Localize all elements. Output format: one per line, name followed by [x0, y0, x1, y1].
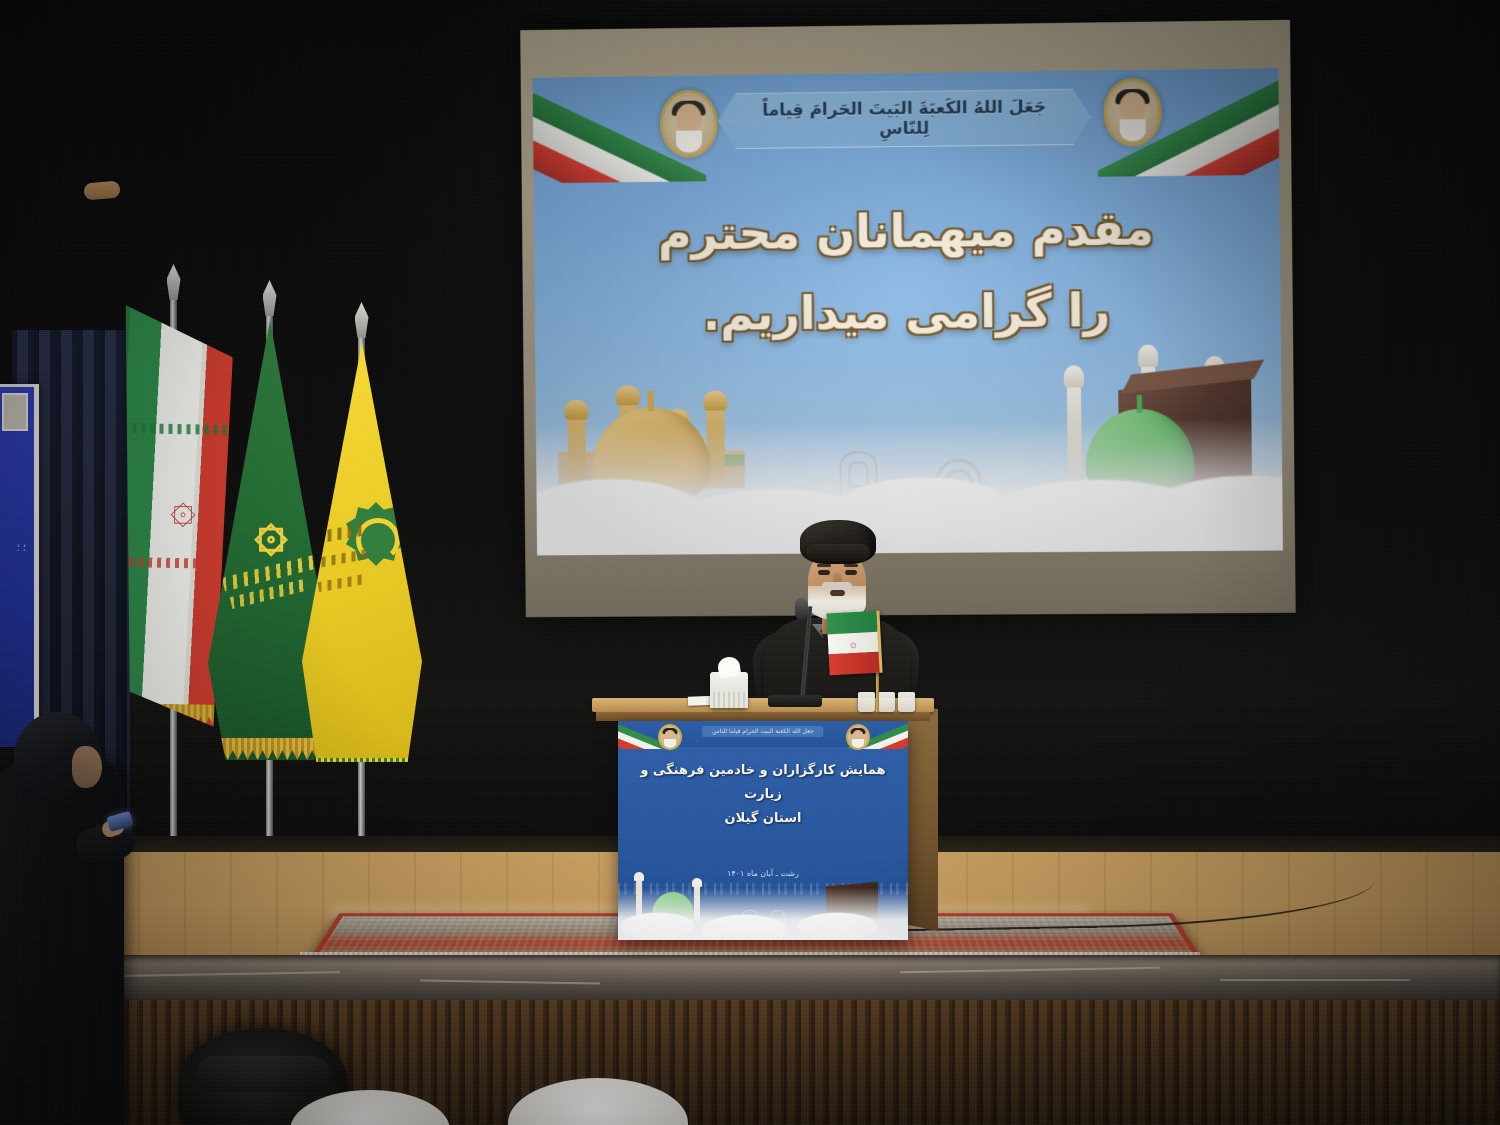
woman-face	[72, 746, 102, 788]
yellow-flag-cloth	[302, 342, 422, 762]
blue-standee-banner: ؛ ؛	[0, 384, 39, 747]
banner-flag-swoosh-right-icon	[832, 721, 908, 749]
remote-control	[768, 695, 822, 707]
banner-title: همایش کارگزاران و خادمین فرهنگی و زیارت …	[626, 759, 900, 831]
chador-body	[0, 754, 124, 1125]
standee-text: ؛ ؛	[2, 537, 26, 561]
banner-title-line1: همایش کارگزاران و خادمین فرهنگی و زیارت	[626, 759, 900, 807]
banner-portrait-khamenei	[846, 724, 870, 750]
iran-desk-flag-emblem-icon: ۞	[846, 638, 861, 651]
flag-stand-group: ۞ ۞	[96, 288, 406, 928]
water-glass	[898, 692, 915, 712]
green-flag-emblem-icon: ۞	[234, 498, 308, 568]
banner-portrait-khomeini	[658, 724, 682, 750]
podium-side-panel	[908, 703, 938, 931]
stage-marble-lip	[0, 955, 1500, 1003]
microphone-head-icon	[795, 598, 808, 620]
conference-hall-photo: جَعَلَ اللهُ الكَعبَةَ البَيتَ الحَرامَ …	[0, 0, 1500, 1125]
water-glass	[878, 692, 895, 712]
banner-title-line2: استان گیلان	[626, 807, 900, 831]
slide-headline-line1: مقدم میهمانان محترم	[658, 201, 1155, 260]
speaker-eye-right	[845, 570, 857, 575]
podium-banner: جعل الله الكعبة البيت الحرام قياما للناس…	[618, 721, 908, 940]
speaker-moustache	[822, 582, 852, 590]
iran-emblem-icon: ۞	[160, 486, 207, 533]
tissue-box	[710, 672, 748, 708]
quran-verse-plaque: جَعَلَ اللهُ الكَعبَةَ البَيتَ الحَرامَ …	[718, 89, 1091, 150]
portrait-khomeini	[660, 89, 718, 158]
speaker-black-turban	[800, 520, 876, 564]
podium-desk-edge	[596, 712, 930, 721]
woman-in-chador	[0, 712, 134, 1125]
speaker-mouth	[830, 590, 845, 596]
water-glass	[858, 692, 875, 712]
banner-date: رشت ـ آبان ماه ۱۴۰۱	[618, 869, 908, 878]
speaker-eye-left	[818, 570, 830, 575]
standee-logo-icon	[2, 393, 28, 431]
portrait-khamenei	[1103, 78, 1162, 147]
banner-quran-verse: جعل الله الكعبة البيت الحرام قياما للناس	[702, 726, 823, 737]
iran-desk-flag: ۞	[826, 611, 882, 676]
banner-clouds	[618, 888, 908, 940]
podium-banner-header: جعل الله الكعبة البيت الحرام قياما للناس	[618, 721, 908, 747]
projected-slide: جَعَلَ اللهُ الكَعبَةَ البَيتَ الحَرامَ …	[533, 68, 1283, 555]
podium: جعل الله الكعبة البيت الحرام قياما للناس…	[592, 698, 934, 940]
flag-finial-icon	[355, 302, 369, 338]
